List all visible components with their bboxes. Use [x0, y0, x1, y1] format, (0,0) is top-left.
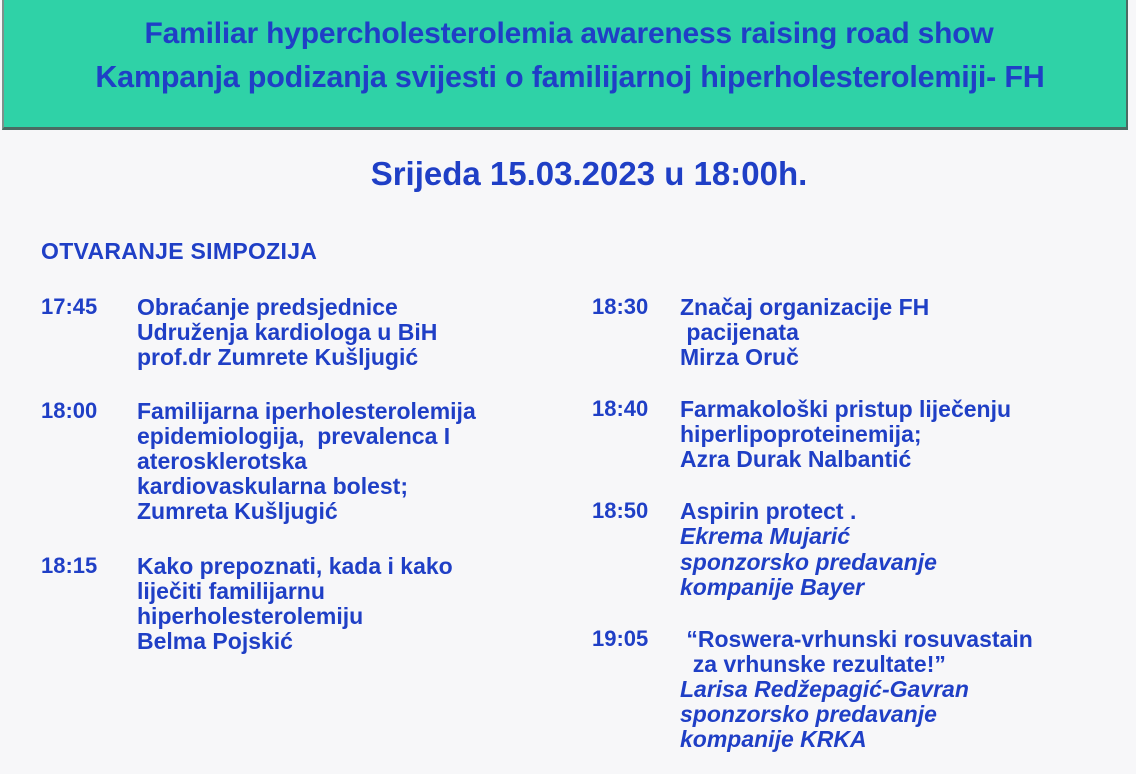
entry-lines: Farmakološki pristup liječenjuhiperlipop…	[680, 397, 1136, 472]
entry-line: Azra Durak Nalbantić	[680, 447, 1136, 472]
banner-title-english: Familiar hypercholesterolemia awareness …	[4, 17, 1126, 51]
entry-line: Obraćanje predsjednice	[137, 295, 571, 320]
entry-time: 18:30	[592, 295, 680, 319]
event-date: Srijeda 15.03.2023 u 18:00h.	[0, 155, 1136, 193]
entry-lines: Značaj organizacije FH pacijenataMirza O…	[680, 295, 1136, 370]
entry-line: Aspirin protect .	[680, 499, 1136, 524]
entry-line: za vrhunske rezultate!”	[680, 652, 1136, 677]
entry-line-italic: kompanije Bayer	[680, 575, 1136, 600]
header-banner: Familiar hypercholesterolemia awareness …	[2, 0, 1128, 130]
entry-time: 18:15	[41, 554, 137, 578]
entry-line: Farmakološki pristup liječenju	[680, 397, 1136, 422]
entry-line: Familijarna iperholesterolemija	[137, 399, 571, 424]
entry-lines: Kako prepoznati, kada i kakoliječiti fam…	[137, 554, 571, 654]
banner-title-bosnian: Kampanja podizanja svijesti o familijarn…	[4, 60, 1126, 95]
entry-line: hiperholesterolemiju	[137, 604, 571, 629]
entry-lines: Aspirin protect .Ekrema Mujarićsponzorsk…	[680, 499, 1136, 599]
entry-line-italic: sponzorsko predavanje	[680, 550, 1136, 575]
program-entry: 19:05 “Roswera-vrhunski rosuvastain za v…	[592, 627, 1136, 752]
entry-line: Zumreta Kušljugić	[137, 499, 571, 524]
entry-line-italic: Ekrema Mujarić	[680, 524, 1136, 549]
program-column-right: 18:30Značaj organizacije FH pacijenataMi…	[592, 295, 1136, 752]
program-schedule: 17:45Obraćanje predsjedniceUdruženja kar…	[0, 295, 1136, 774]
program-entry: 17:45Obraćanje predsjedniceUdruženja kar…	[41, 295, 571, 370]
entry-time: 18:50	[592, 499, 680, 523]
program-entry: 18:40Farmakološki pristup liječenjuhiper…	[592, 397, 1136, 472]
entry-line-italic: kompanije KRKA	[680, 727, 1136, 752]
entry-time: 18:40	[592, 397, 680, 421]
entry-line: Kako prepoznati, kada i kako	[137, 554, 571, 579]
entry-lines: “Roswera-vrhunski rosuvastain za vrhunsk…	[680, 627, 1136, 752]
entry-line: “Roswera-vrhunski rosuvastain	[680, 627, 1136, 652]
entry-line: aterosklerotska	[137, 449, 571, 474]
entry-line: epidemiologija, prevalenca I	[137, 424, 571, 449]
entry-time: 18:00	[41, 399, 137, 423]
entry-lines: Obraćanje predsjedniceUdruženja kardiolo…	[137, 295, 571, 370]
entry-line: prof.dr Zumrete Kušljugić	[137, 345, 571, 370]
section-heading: OTVARANJE SIMPOZIJA	[41, 238, 317, 265]
program-entry: 18:30Značaj organizacije FH pacijenataMi…	[592, 295, 1136, 370]
entry-line: hiperlipoproteinemija;	[680, 422, 1136, 447]
entry-time: 17:45	[41, 295, 137, 319]
program-entry: 18:00Familijarna iperholesterolemijaepid…	[41, 399, 571, 524]
entry-lines: Familijarna iperholesterolemijaepidemiol…	[137, 399, 571, 524]
entry-line: pacijenata	[680, 320, 1136, 345]
program-entry: 18:15Kako prepoznati, kada i kakoliječit…	[41, 554, 571, 654]
program-column-left: 17:45Obraćanje predsjedniceUdruženja kar…	[41, 295, 571, 654]
entry-line: Značaj organizacije FH	[680, 295, 1136, 320]
entry-line-italic: sponzorsko predavanje	[680, 702, 1136, 727]
entry-line: Udruženja kardiologa u BiH	[137, 320, 571, 345]
program-entry: 18:50Aspirin protect .Ekrema Mujarićspon…	[592, 499, 1136, 599]
entry-time: 19:05	[592, 627, 680, 651]
entry-line: Belma Pojskić	[137, 629, 571, 654]
entry-line-italic: Larisa Redžepagić-Gavran	[680, 677, 1136, 702]
entry-line: kardiovaskularna bolest;	[137, 474, 571, 499]
entry-line: Mirza Oruč	[680, 345, 1136, 370]
entry-line: liječiti familijarnu	[137, 579, 571, 604]
